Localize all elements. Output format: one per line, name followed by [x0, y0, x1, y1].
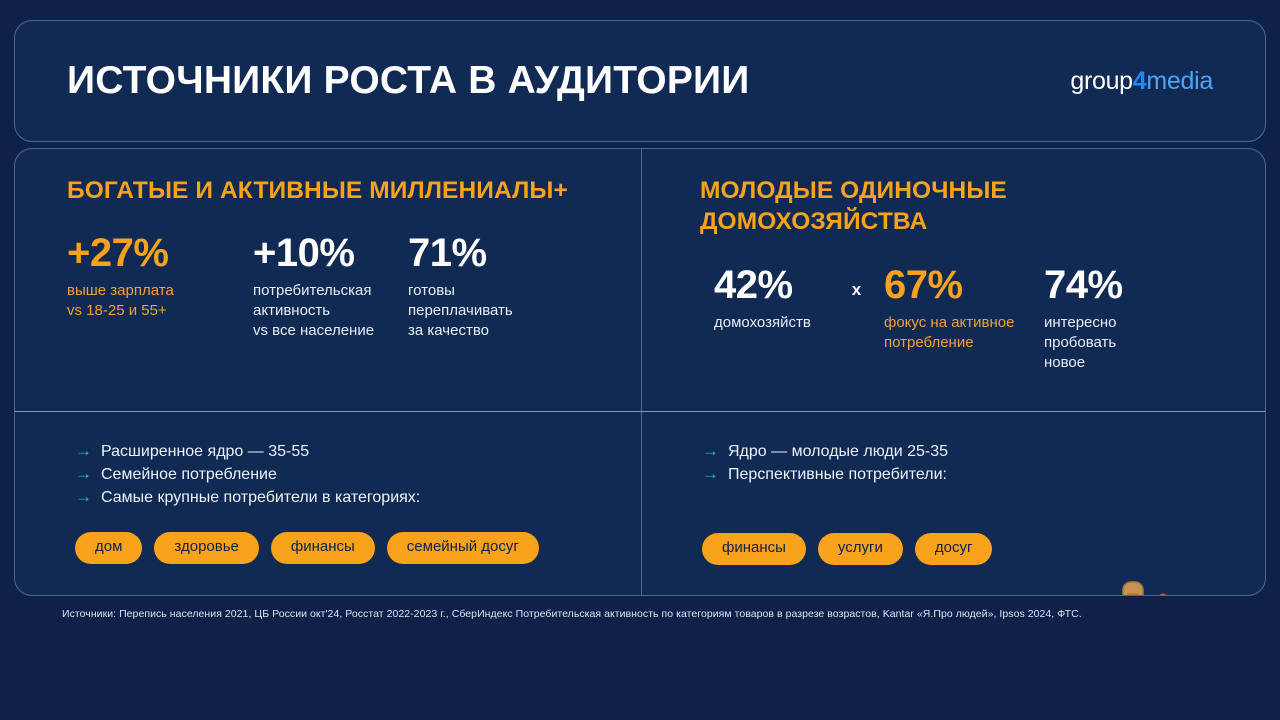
header-card: ИСТОЧНИКИ РОСТА В АУДИТОРИИ group4media — [14, 20, 1266, 142]
group4media-logo: group4media — [1070, 69, 1213, 94]
category-pill-semeyny-dosug[interactable]: семейный досуг — [387, 532, 539, 564]
sources-footnote: Источники: Перепись населения 2021, ЦБ Р… — [62, 606, 1132, 622]
list-item-label: Ядро — молодые люди 25-35 — [728, 442, 948, 462]
list-item: → Самые крупные потребители в категориях… — [75, 488, 601, 508]
arrow-right-icon: → — [702, 442, 719, 459]
right-panel-stats: 42% домохозяйств x 67% фокус на активное… — [700, 264, 1227, 373]
category-pill-dosug[interactable]: досуг — [915, 533, 993, 565]
left-panel-bottom: → Расширенное ядро — 35-55 → Семейное по… — [15, 412, 641, 596]
multiplier-symbol: x — [829, 280, 884, 300]
stat-value: +10% — [253, 232, 408, 274]
presentation-slide: ИСТОЧНИКИ РОСТА В АУДИТОРИИ group4media … — [0, 0, 1280, 720]
left-panel-top: БОГАТЫЕ И АКТИВНЫЕ МИЛЛЕНИАЛЫ+ +27% выше… — [15, 149, 641, 411]
right-panel-bottom: → Ядро — молодые люди 25-35 → Перспектив… — [642, 412, 1266, 596]
left-panel-heading: БОГАТЫЕ И АКТИВНЫЕ МИЛЛЕНИАЛЫ+ — [67, 175, 601, 206]
list-item: → Семейное потребление — [75, 465, 601, 485]
list-item-label: Самые крупные потребители в категориях: — [101, 488, 420, 508]
right-panel-top: МОЛОДЫЕ ОДИНОЧНЫЕ ДОМОХОЗЯЙСТВА 42% домо… — [642, 149, 1266, 411]
category-pill-finansy[interactable]: финансы — [271, 532, 375, 564]
right-bullet-list: → Ядро — молодые люди 25-35 → Перспектив… — [702, 442, 1227, 485]
stat-value: 67% — [884, 264, 1044, 306]
page-title: ИСТОЧНИКИ РОСТА В АУДИТОРИИ — [67, 60, 750, 103]
arrow-right-icon: → — [702, 465, 719, 482]
logo-text-four: 4 — [1133, 67, 1147, 95]
stat-item: +10% потребительская активность vs все н… — [253, 232, 408, 341]
stat-caption: домохозяйств — [714, 313, 829, 333]
content-card: БОГАТЫЕ И АКТИВНЫЕ МИЛЛЕНИАЛЫ+ +27% выше… — [14, 148, 1266, 596]
champagne-bottle-icon — [1079, 580, 1189, 596]
arrow-right-icon: → — [75, 488, 92, 505]
stat-caption: потребительская активность vs все населе… — [253, 281, 408, 341]
stat-value: +27% — [67, 232, 253, 274]
stat-value: 71% — [408, 232, 513, 274]
stat-caption: выше зарплата vs 18-25 и 55+ — [67, 281, 253, 321]
category-pill-zdorovie[interactable]: здоровье — [154, 532, 258, 564]
category-pill-uslugi[interactable]: услуги — [818, 533, 903, 565]
logo-text-media: media — [1146, 67, 1213, 95]
stat-item: 67% фокус на активное потребление — [884, 264, 1044, 373]
list-item: → Расширенное ядро — 35-55 — [75, 442, 601, 462]
left-category-pills: дом здоровье финансы семейный досуг — [75, 532, 601, 564]
list-item: → Ядро — молодые люди 25-35 — [702, 442, 1227, 462]
category-pill-dom[interactable]: дом — [75, 532, 142, 564]
right-panel-heading: МОЛОДЫЕ ОДИНОЧНЫЕ ДОМОХОЗЯЙСТВА — [700, 175, 1227, 238]
stat-caption: интересно пробовать новое — [1044, 313, 1123, 373]
category-pill-finansy[interactable]: финансы — [702, 533, 806, 565]
list-item-label: Расширенное ядро — 35-55 — [101, 442, 309, 462]
list-item: → Перспективные потребители: — [702, 465, 1227, 485]
stat-item: 42% домохозяйств — [714, 264, 829, 373]
arrow-right-icon: → — [75, 442, 92, 459]
stat-value: 42% — [714, 264, 829, 306]
list-item-label: Семейное потребление — [101, 465, 277, 485]
stat-item: +27% выше зарплата vs 18-25 и 55+ — [67, 232, 253, 341]
stat-caption: готовы переплачивать за качество — [408, 281, 513, 341]
right-category-pills: финансы услуги досуг — [702, 533, 1227, 565]
left-panel-stats: +27% выше зарплата vs 18-25 и 55+ +10% п… — [67, 232, 601, 341]
stat-item: 71% готовы переплачивать за качество — [408, 232, 513, 341]
list-item-label: Перспективные потребители: — [728, 465, 947, 485]
logo-text-group: group — [1070, 67, 1132, 95]
left-bullet-list: → Расширенное ядро — 35-55 → Семейное по… — [75, 442, 601, 508]
stat-value: 74% — [1044, 264, 1123, 306]
stat-item: 74% интересно пробовать новое — [1044, 264, 1123, 373]
arrow-right-icon: → — [75, 465, 92, 482]
stat-caption: фокус на активное потребление — [884, 313, 1044, 353]
